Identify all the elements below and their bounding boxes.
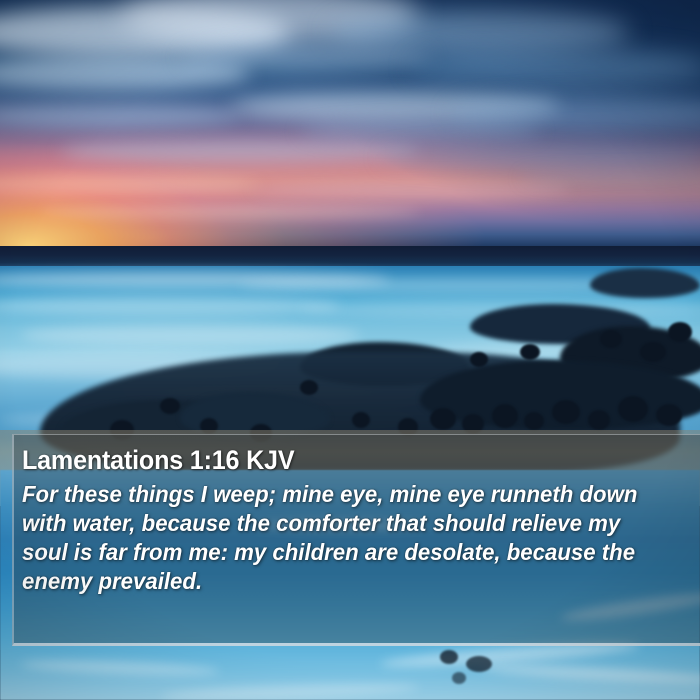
rock-pebble — [524, 412, 544, 430]
rock-pebble — [618, 396, 648, 422]
rock-pebble — [492, 404, 518, 428]
rock-pebble — [300, 380, 318, 395]
rock-pebble — [552, 400, 580, 424]
rock-pebble — [470, 352, 488, 367]
rock-pebble — [440, 650, 458, 664]
verse-text: For these things I weep; mine eye, mine … — [22, 480, 661, 596]
rock-pebble — [430, 408, 456, 430]
scripture-image-card: Lamentations 1:16 KJV For these things I… — [0, 0, 700, 700]
rock-pebble — [668, 322, 692, 342]
horizon-line — [0, 246, 700, 268]
sky-dark-top-gradient — [0, 0, 700, 150]
rock-pebble — [466, 656, 492, 672]
verse-reference-title: Lamentations 1:16 KJV — [22, 447, 638, 474]
rock-pebble — [352, 412, 370, 428]
rock-pebble — [452, 672, 466, 684]
verse-caption-panel: Lamentations 1:16 KJV For these things I… — [12, 434, 700, 646]
rock-pebble — [462, 414, 484, 434]
rock-pebble — [640, 342, 666, 362]
rock-pebble — [160, 398, 180, 414]
rock-pebble — [588, 410, 610, 430]
rock-pebble — [200, 418, 218, 434]
rock-pebble — [520, 344, 540, 360]
rock-pebble — [656, 404, 682, 426]
rock-pebble — [600, 330, 622, 348]
